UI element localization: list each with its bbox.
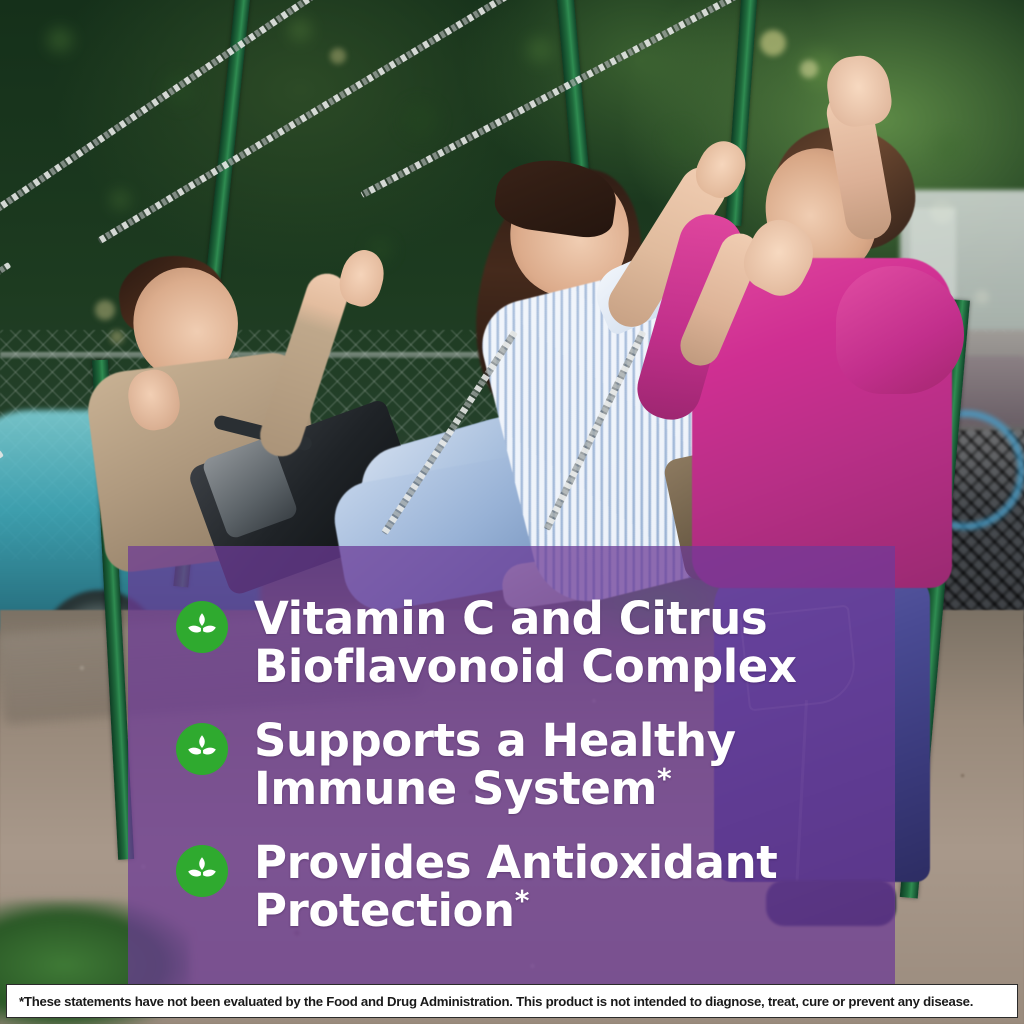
benefits-overlay-panel: Vitamin C and Citrus Bioflavonoid Comple… (128, 546, 895, 988)
product-benefits-banner: Vitamin C and Citrus Bioflavonoid Comple… (0, 0, 1024, 1024)
benefit-asterisk: * (657, 762, 671, 795)
benefit-line-1: Supports a Healthy (254, 714, 736, 767)
benefit-line-2: Immune System (254, 762, 657, 815)
benefit-line-2: Protection (254, 884, 515, 937)
bokeh-light (760, 30, 786, 56)
leaf-icon (176, 723, 228, 775)
benefit-line-1: Vitamin C and Citrus (254, 592, 767, 645)
leaf-icon (176, 845, 228, 897)
benefit-text: Vitamin C and Citrus Bioflavonoid Comple… (254, 595, 797, 691)
benefit-line-1: Provides Antioxidant (254, 836, 777, 889)
benefit-item: Vitamin C and Citrus Bioflavonoid Comple… (176, 595, 855, 691)
leaf-icon (176, 601, 228, 653)
benefit-item: Supports a Healthy Immune System* (176, 717, 855, 813)
benefit-line-2: Bioflavonoid Complex (254, 640, 797, 693)
bokeh-light (800, 60, 818, 78)
disclaimer-bar: *These statements have not been evaluate… (6, 984, 1018, 1018)
benefit-text: Supports a Healthy Immune System* (254, 717, 736, 813)
bokeh-light (330, 48, 346, 64)
disclaimer-text: *These statements have not been evaluate… (19, 994, 973, 1009)
benefit-item: Provides Antioxidant Protection* (176, 839, 855, 935)
benefit-asterisk: * (515, 884, 529, 917)
benefit-text: Provides Antioxidant Protection* (254, 839, 777, 935)
